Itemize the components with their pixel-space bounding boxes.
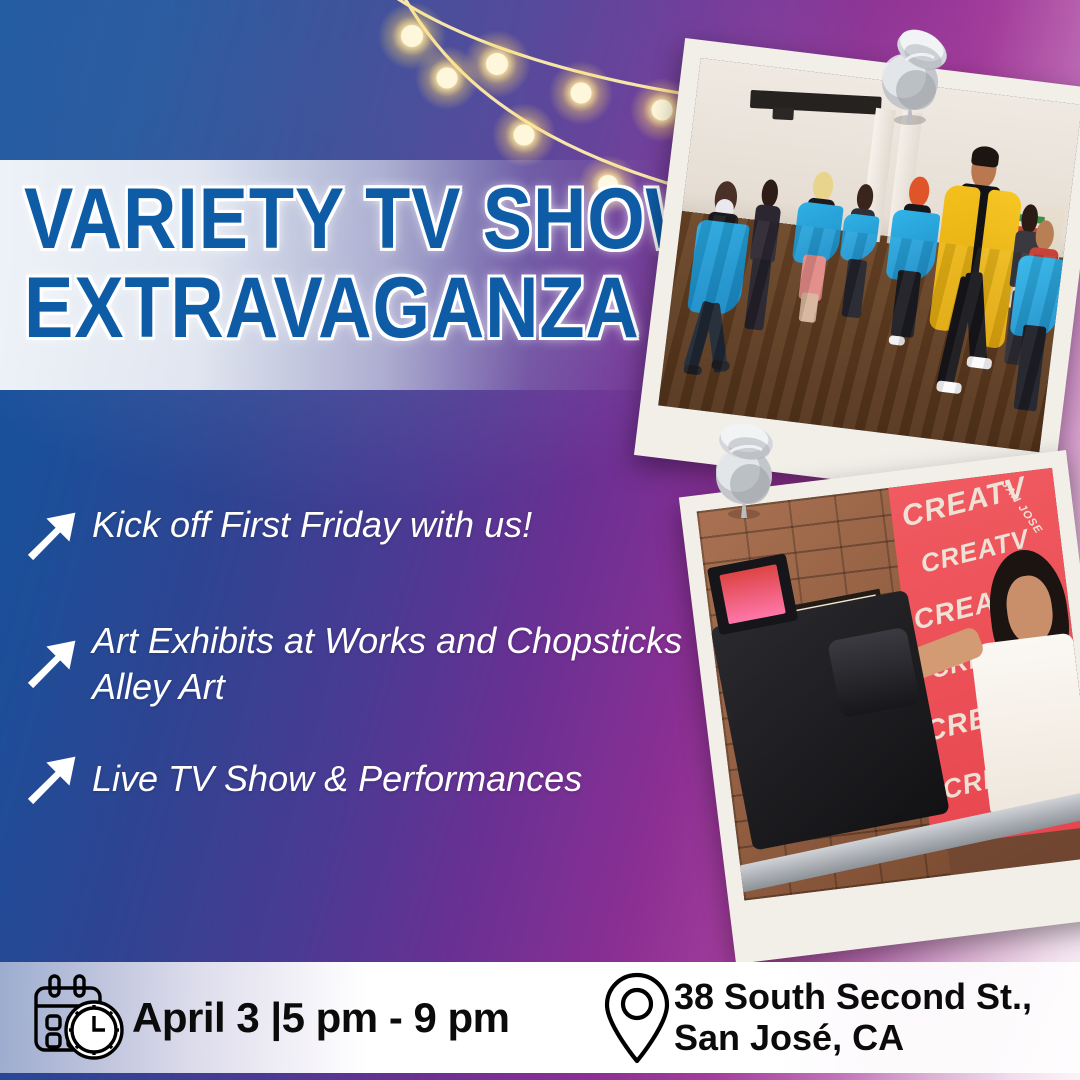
feature-list: Kick off First Friday with us! Art Exhib… [0, 500, 700, 860]
address-line-2: San José, CA [674, 1018, 1032, 1058]
title-line-1: VARIETY TV SHOW [24, 178, 716, 261]
photo-dance-class-image [658, 58, 1080, 452]
map-pin-icon [600, 969, 674, 1067]
footer-date-block: April 3 |5 pm - 9 pm [0, 972, 600, 1064]
arrow-up-right-icon [16, 634, 82, 700]
arrow-up-right-icon [16, 750, 82, 816]
arrow-up-right-icon [16, 506, 82, 572]
photo-creatv-backdrop-image: CREATV CREATV CREATV CREATV CREATV CREAT… [697, 468, 1080, 901]
list-item-label: Kick off First Friday with us! [82, 500, 532, 548]
photo-dance-class [634, 38, 1080, 506]
list-item-label: Live TV Show & Performances [82, 754, 582, 802]
event-date-time: April 3 |5 pm - 9 pm [132, 994, 510, 1042]
photo-creatv-backdrop: CREATV CREATV CREATV CREATV CREATV CREAT… [679, 450, 1080, 964]
title-line-2: EXTRAVAGANZA [24, 267, 640, 350]
event-address: 38 South Second St., San José, CA [674, 977, 1032, 1058]
footer-location-block: 38 South Second St., San José, CA [600, 969, 1080, 1067]
list-item: Live TV Show & Performances [0, 754, 700, 816]
list-item: Kick off First Friday with us! [0, 500, 700, 572]
event-poster: VARIETY TV SHOW EXTRAVAGANZA Kick off Fi… [0, 0, 1080, 1080]
poster-title: VARIETY TV SHOW EXTRAVAGANZA [0, 160, 700, 349]
address-line-1: 38 South Second St., [674, 977, 1032, 1017]
list-item-label: Art Exhibits at Works and Chopsticks All… [82, 616, 700, 710]
footer-info-bar: April 3 |5 pm - 9 pm 38 South Second St.… [0, 962, 1080, 1073]
list-item: Art Exhibits at Works and Chopsticks All… [0, 616, 700, 710]
calendar-clock-icon [28, 972, 132, 1064]
